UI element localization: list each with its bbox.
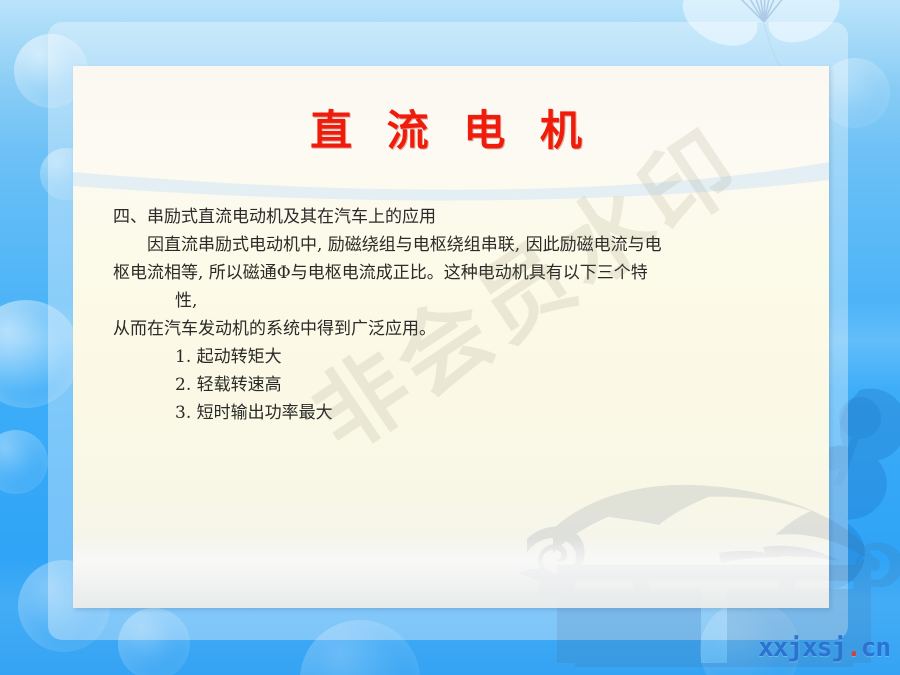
site-logo-suffix: cn	[861, 633, 890, 663]
content-panel: 直 流 电 机 四、串励式直流电动机及其在汽车上的应用 因直流串励式电动机中, …	[73, 66, 829, 608]
site-logo-watermark: xxjxsj.cn	[758, 633, 890, 663]
site-logo-dot: .	[846, 633, 861, 663]
slide-title: 直 流 电 机	[73, 97, 829, 158]
section-heading: 四、串励式直流电动机及其在汽车上的应用	[113, 203, 803, 231]
paragraph-line-3: 性,	[113, 287, 803, 315]
list-item: 2. 轻载转速高	[113, 371, 803, 399]
paragraph-line-1: 因直流串励式电动机中, 励磁绕组与电枢绕组串联, 因此励磁电流与电	[113, 231, 803, 259]
bubble-decoration-icon	[0, 300, 80, 408]
bubble-decoration-icon	[118, 608, 190, 675]
panel-bottom-reflection	[73, 538, 829, 608]
presentation-slide: 直 流 电 机 四、串励式直流电动机及其在汽车上的应用 因直流串励式电动机中, …	[0, 0, 900, 675]
list-item: 1. 起动转矩大	[113, 343, 803, 371]
slide-body-text: 四、串励式直流电动机及其在汽车上的应用 因直流串励式电动机中, 励磁绕组与电枢绕…	[113, 203, 803, 427]
list-item: 3. 短时输出功率最大	[113, 399, 803, 427]
paragraph-line-2: 枢电流相等, 所以磁通Φ与电枢电流成正比。这种电动机具有以下三个特	[113, 259, 803, 287]
paragraph-line-4: 从而在汽车发动机的系统中得到广泛应用。	[113, 315, 803, 343]
bubble-decoration-icon	[820, 58, 890, 128]
plant-top-silhouette-icon	[820, 396, 894, 492]
bubble-decoration-icon	[0, 430, 48, 494]
bubble-decoration-icon	[300, 620, 420, 675]
site-logo-prefix: xxjxsj	[758, 633, 846, 663]
